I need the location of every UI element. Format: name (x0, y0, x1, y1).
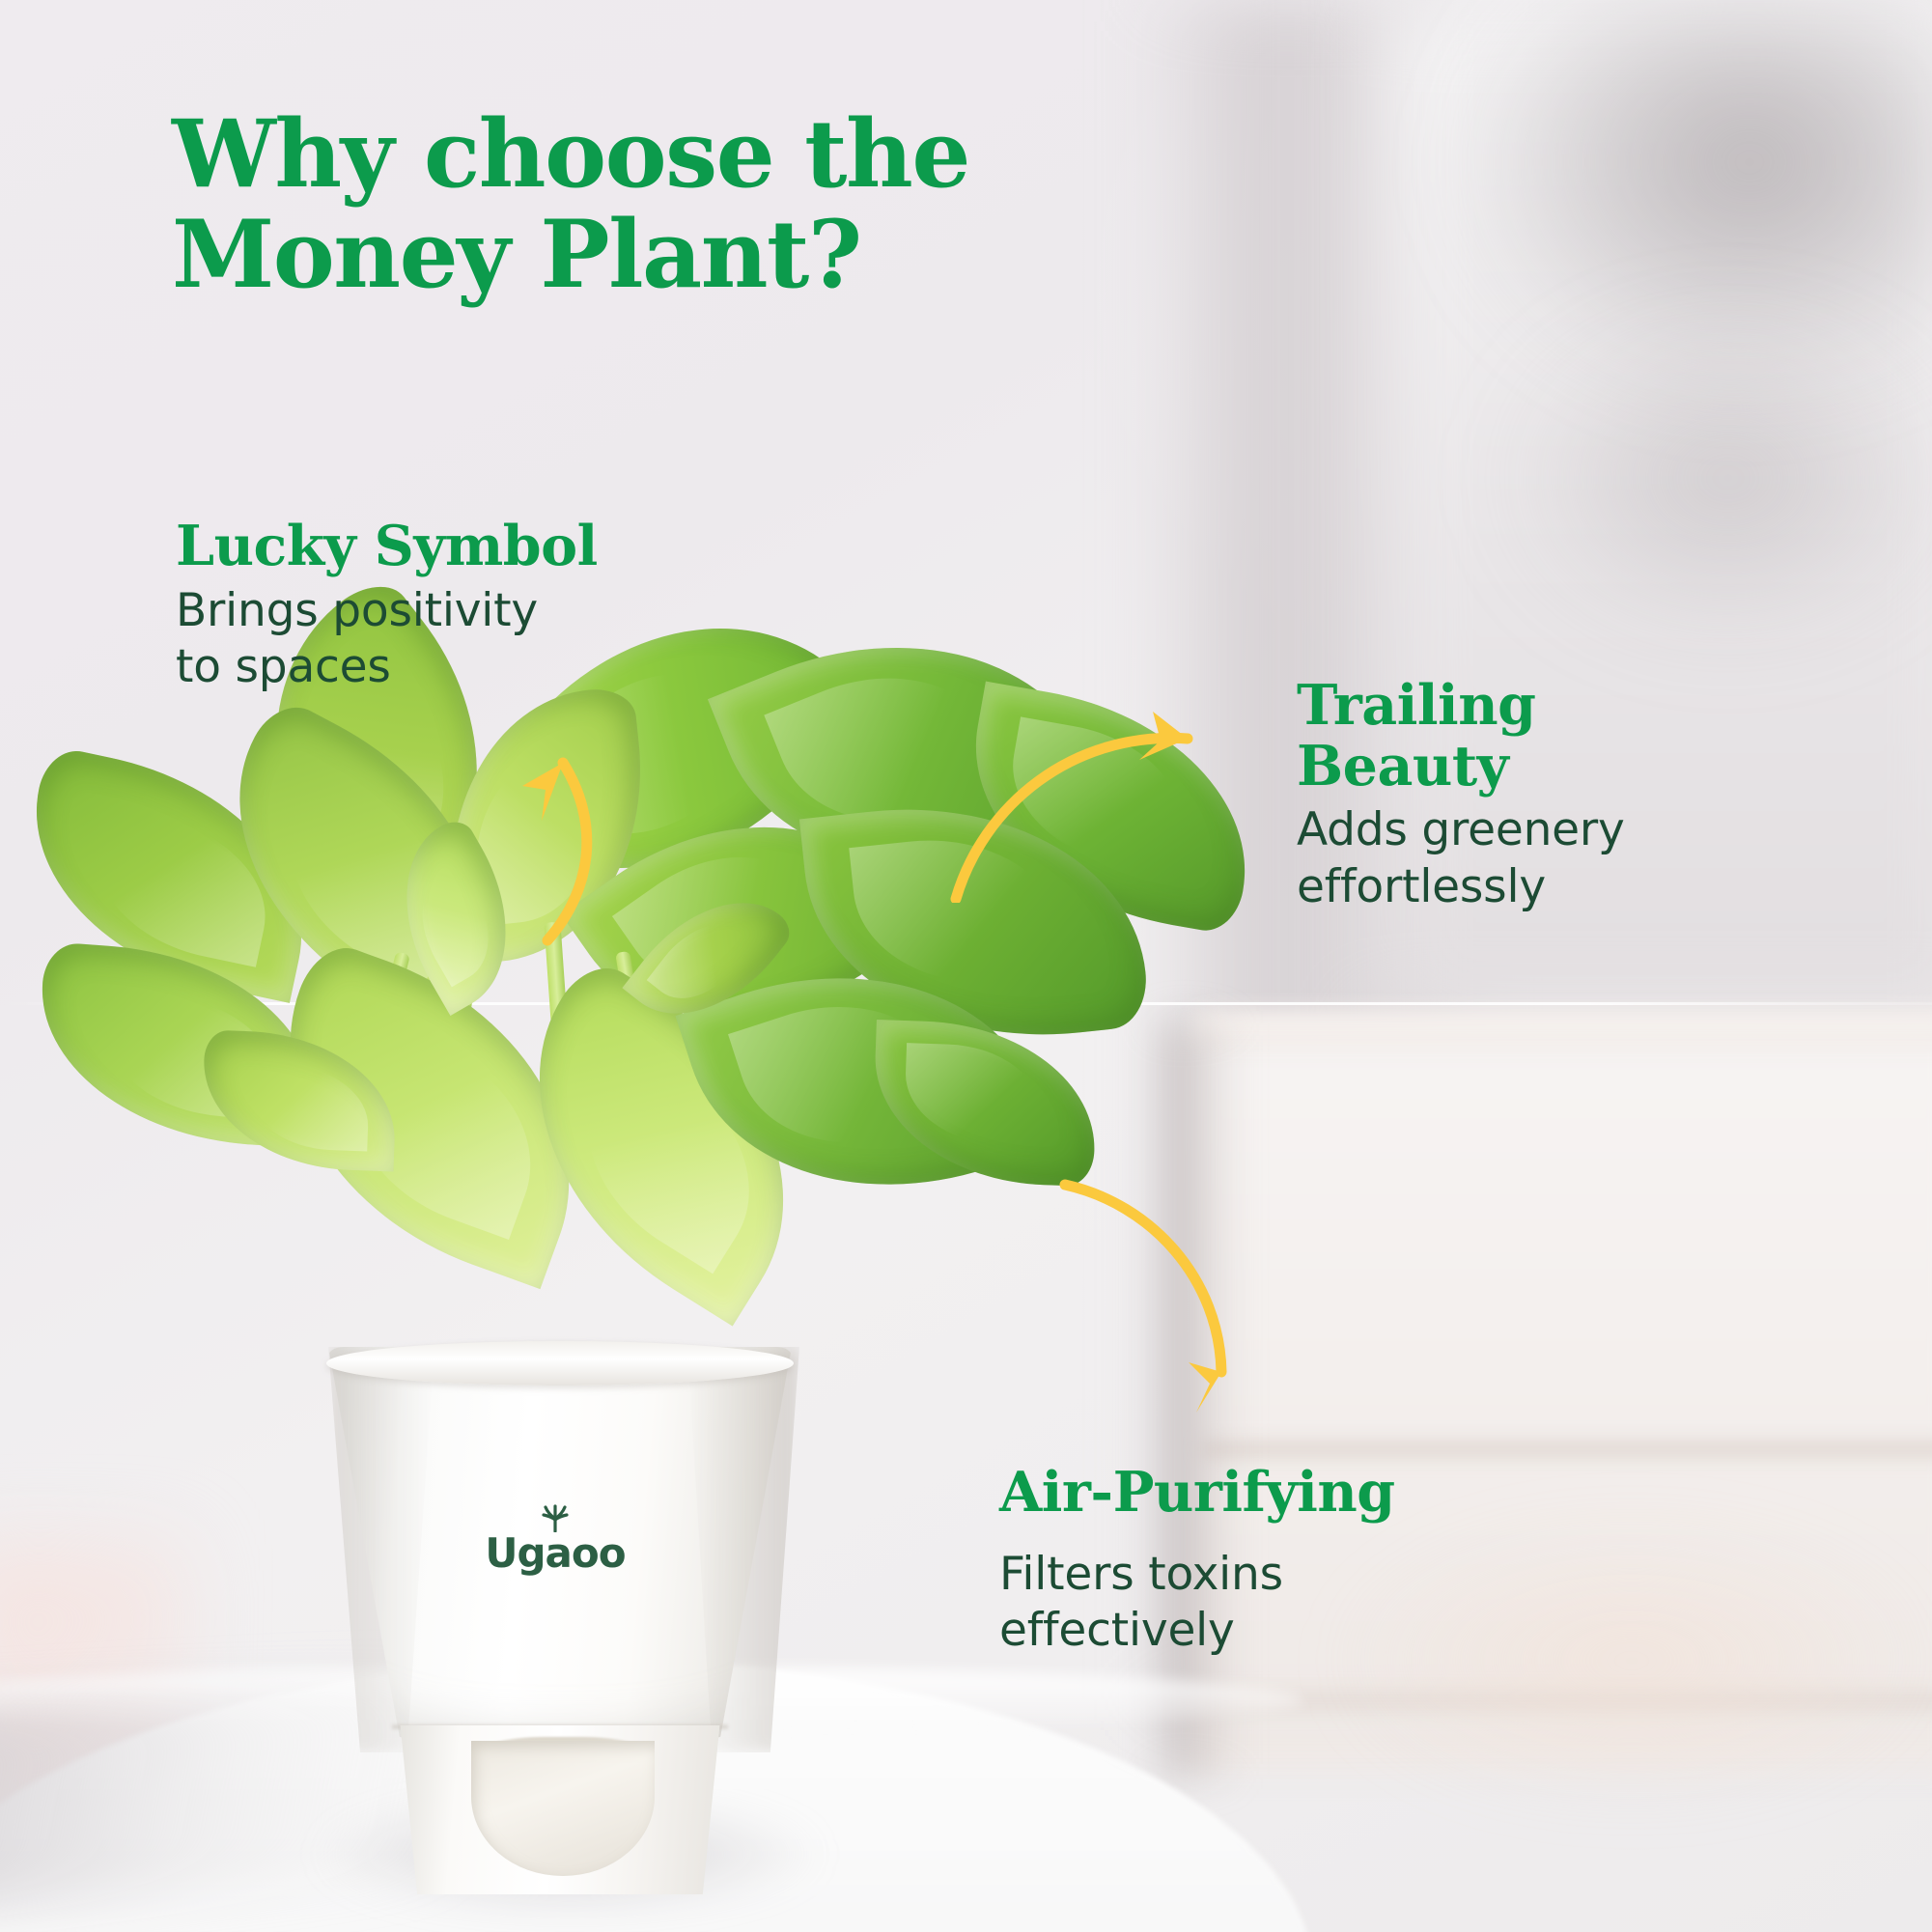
arrow-to-air-purifying (1048, 1144, 1299, 1424)
plant-pot: Ugaoo (309, 1347, 811, 1888)
feature-heading: Trailing Beauty (1297, 676, 1750, 797)
promo-card: Ugaoo Why choose the Money Plant? Lucky … (0, 0, 1932, 1932)
feature-trailing-beauty: Trailing Beauty Adds greenery effortless… (1297, 676, 1750, 915)
arrow-to-lucky-symbol (459, 666, 661, 956)
pot-brand-logo: Ugaoo (444, 1503, 666, 1574)
feature-heading: Lucky Symbol (176, 517, 639, 577)
feature-body: Adds greenery effortlessly (1297, 802, 1750, 915)
arrow-to-trailing-beauty (917, 671, 1255, 903)
feature-lucky-symbol: Lucky Symbol Brings positivity to spaces (176, 517, 639, 695)
background-shadow-mid (1506, 319, 1932, 637)
dresser-drawer-seam (1202, 1439, 1932, 1460)
pot-brand-name: Ugaoo (485, 1529, 625, 1577)
dresser-top-edge (1197, 1012, 1932, 1045)
page-title: Why choose the Money Plant? (172, 104, 969, 304)
feature-heading: Air-Purifying (999, 1463, 1501, 1524)
feature-body: Brings positivity to spaces (176, 583, 639, 696)
pot-rim (326, 1341, 794, 1386)
feature-body: Filters toxins effectively (999, 1547, 1501, 1660)
feature-air-purifying: Air-Purifying Filters toxins effectively (999, 1463, 1501, 1659)
sprout-icon (536, 1503, 574, 1532)
